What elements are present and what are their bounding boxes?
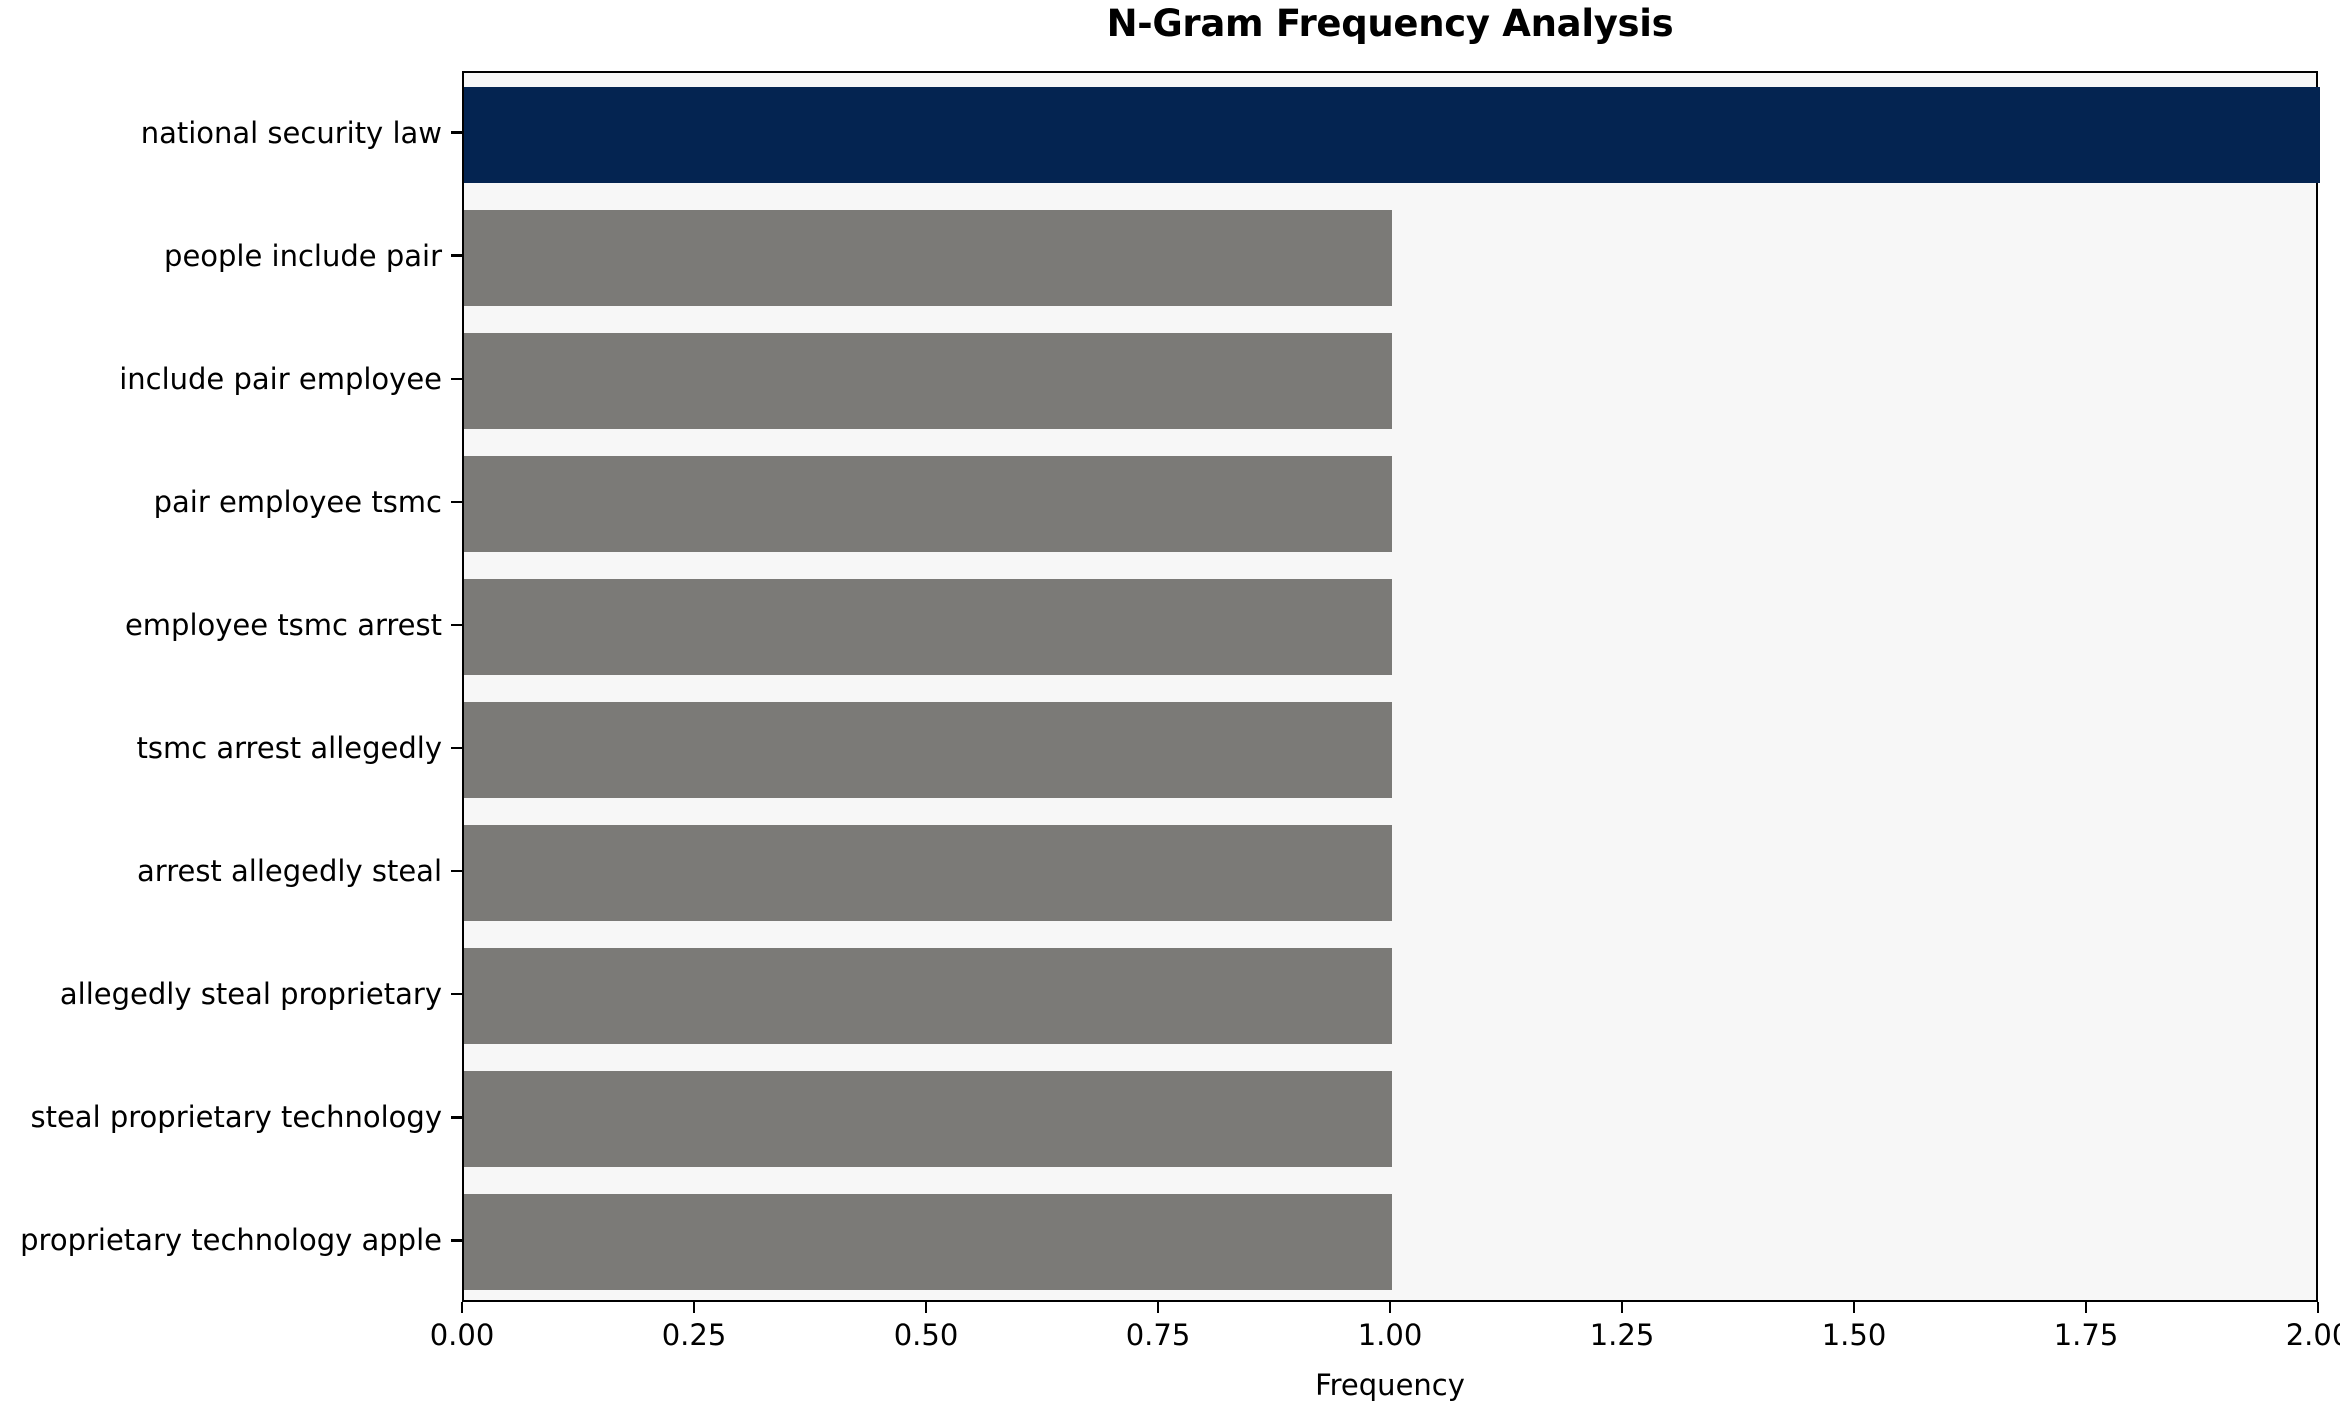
x-axis-tick-label: 1.50 xyxy=(1784,1318,1924,1352)
y-tick-mark xyxy=(451,501,462,503)
x-tick-mark xyxy=(693,1302,695,1313)
x-axis-tick-label: 1.75 xyxy=(2016,1318,2156,1352)
x-axis-tick-label: 2.00 xyxy=(2248,1318,2340,1352)
y-axis-tick-label: tsmc arrest allegedly xyxy=(136,727,442,769)
bars-layer xyxy=(464,73,2316,1300)
y-axis-tick-label: national security law xyxy=(141,112,442,154)
x-tick-mark xyxy=(2317,1302,2319,1313)
y-axis-tick-label: employee tsmc arrest xyxy=(125,604,442,646)
bar xyxy=(464,948,1392,1044)
x-axis-title: Frequency xyxy=(462,1367,2318,1403)
bar xyxy=(464,333,1392,429)
x-axis-tick-label: 0.00 xyxy=(392,1318,532,1352)
bar xyxy=(464,702,1392,798)
x-axis-tick-label: 0.25 xyxy=(624,1318,764,1352)
y-tick-mark xyxy=(451,1239,462,1241)
y-tick-mark xyxy=(451,131,462,133)
y-axis-tick-label: arrest allegedly steal xyxy=(137,850,442,892)
y-tick-mark xyxy=(451,870,462,872)
y-tick-mark xyxy=(451,747,462,749)
y-axis-tick-label: steal proprietary technology xyxy=(30,1096,442,1138)
x-tick-mark xyxy=(925,1302,927,1313)
y-axis-tick-label: proprietary technology apple xyxy=(20,1219,442,1261)
y-axis-tick-label: allegedly steal proprietary xyxy=(60,973,442,1015)
y-axis-tick-label: include pair employee xyxy=(119,358,442,400)
x-axis-tick-label: 0.50 xyxy=(856,1318,996,1352)
bar xyxy=(464,1071,1392,1167)
y-tick-mark xyxy=(451,378,462,380)
x-tick-mark xyxy=(2085,1302,2087,1313)
x-tick-mark xyxy=(1157,1302,1159,1313)
bar xyxy=(464,210,1392,306)
y-tick-mark xyxy=(451,993,462,995)
y-axis-tick-label: people include pair xyxy=(164,235,442,277)
x-axis-tick-label: 0.75 xyxy=(1088,1318,1228,1352)
x-tick-mark xyxy=(461,1302,463,1313)
y-axis: national security lawpeople include pair… xyxy=(0,71,462,1302)
plot-area xyxy=(462,71,2318,1302)
x-axis: Frequency 0.000.250.500.751.001.251.501.… xyxy=(0,1302,2340,1414)
x-axis-tick-label: 1.25 xyxy=(1552,1318,1692,1352)
y-tick-mark xyxy=(451,1116,462,1118)
y-axis-tick-label: pair employee tsmc xyxy=(154,481,442,523)
bar xyxy=(464,456,1392,552)
x-axis-tick-label: 1.00 xyxy=(1320,1318,1460,1352)
chart-figure: N-Gram Frequency Analysis national secur… xyxy=(0,0,2340,1414)
bar xyxy=(464,1194,1392,1290)
y-tick-mark xyxy=(451,254,462,256)
chart-title: N-Gram Frequency Analysis xyxy=(462,2,2318,46)
x-tick-mark xyxy=(1389,1302,1391,1313)
bar xyxy=(464,579,1392,675)
y-tick-mark xyxy=(451,624,462,626)
bar xyxy=(464,87,2320,183)
x-tick-mark xyxy=(1853,1302,1855,1313)
x-tick-mark xyxy=(1621,1302,1623,1313)
bar xyxy=(464,825,1392,921)
